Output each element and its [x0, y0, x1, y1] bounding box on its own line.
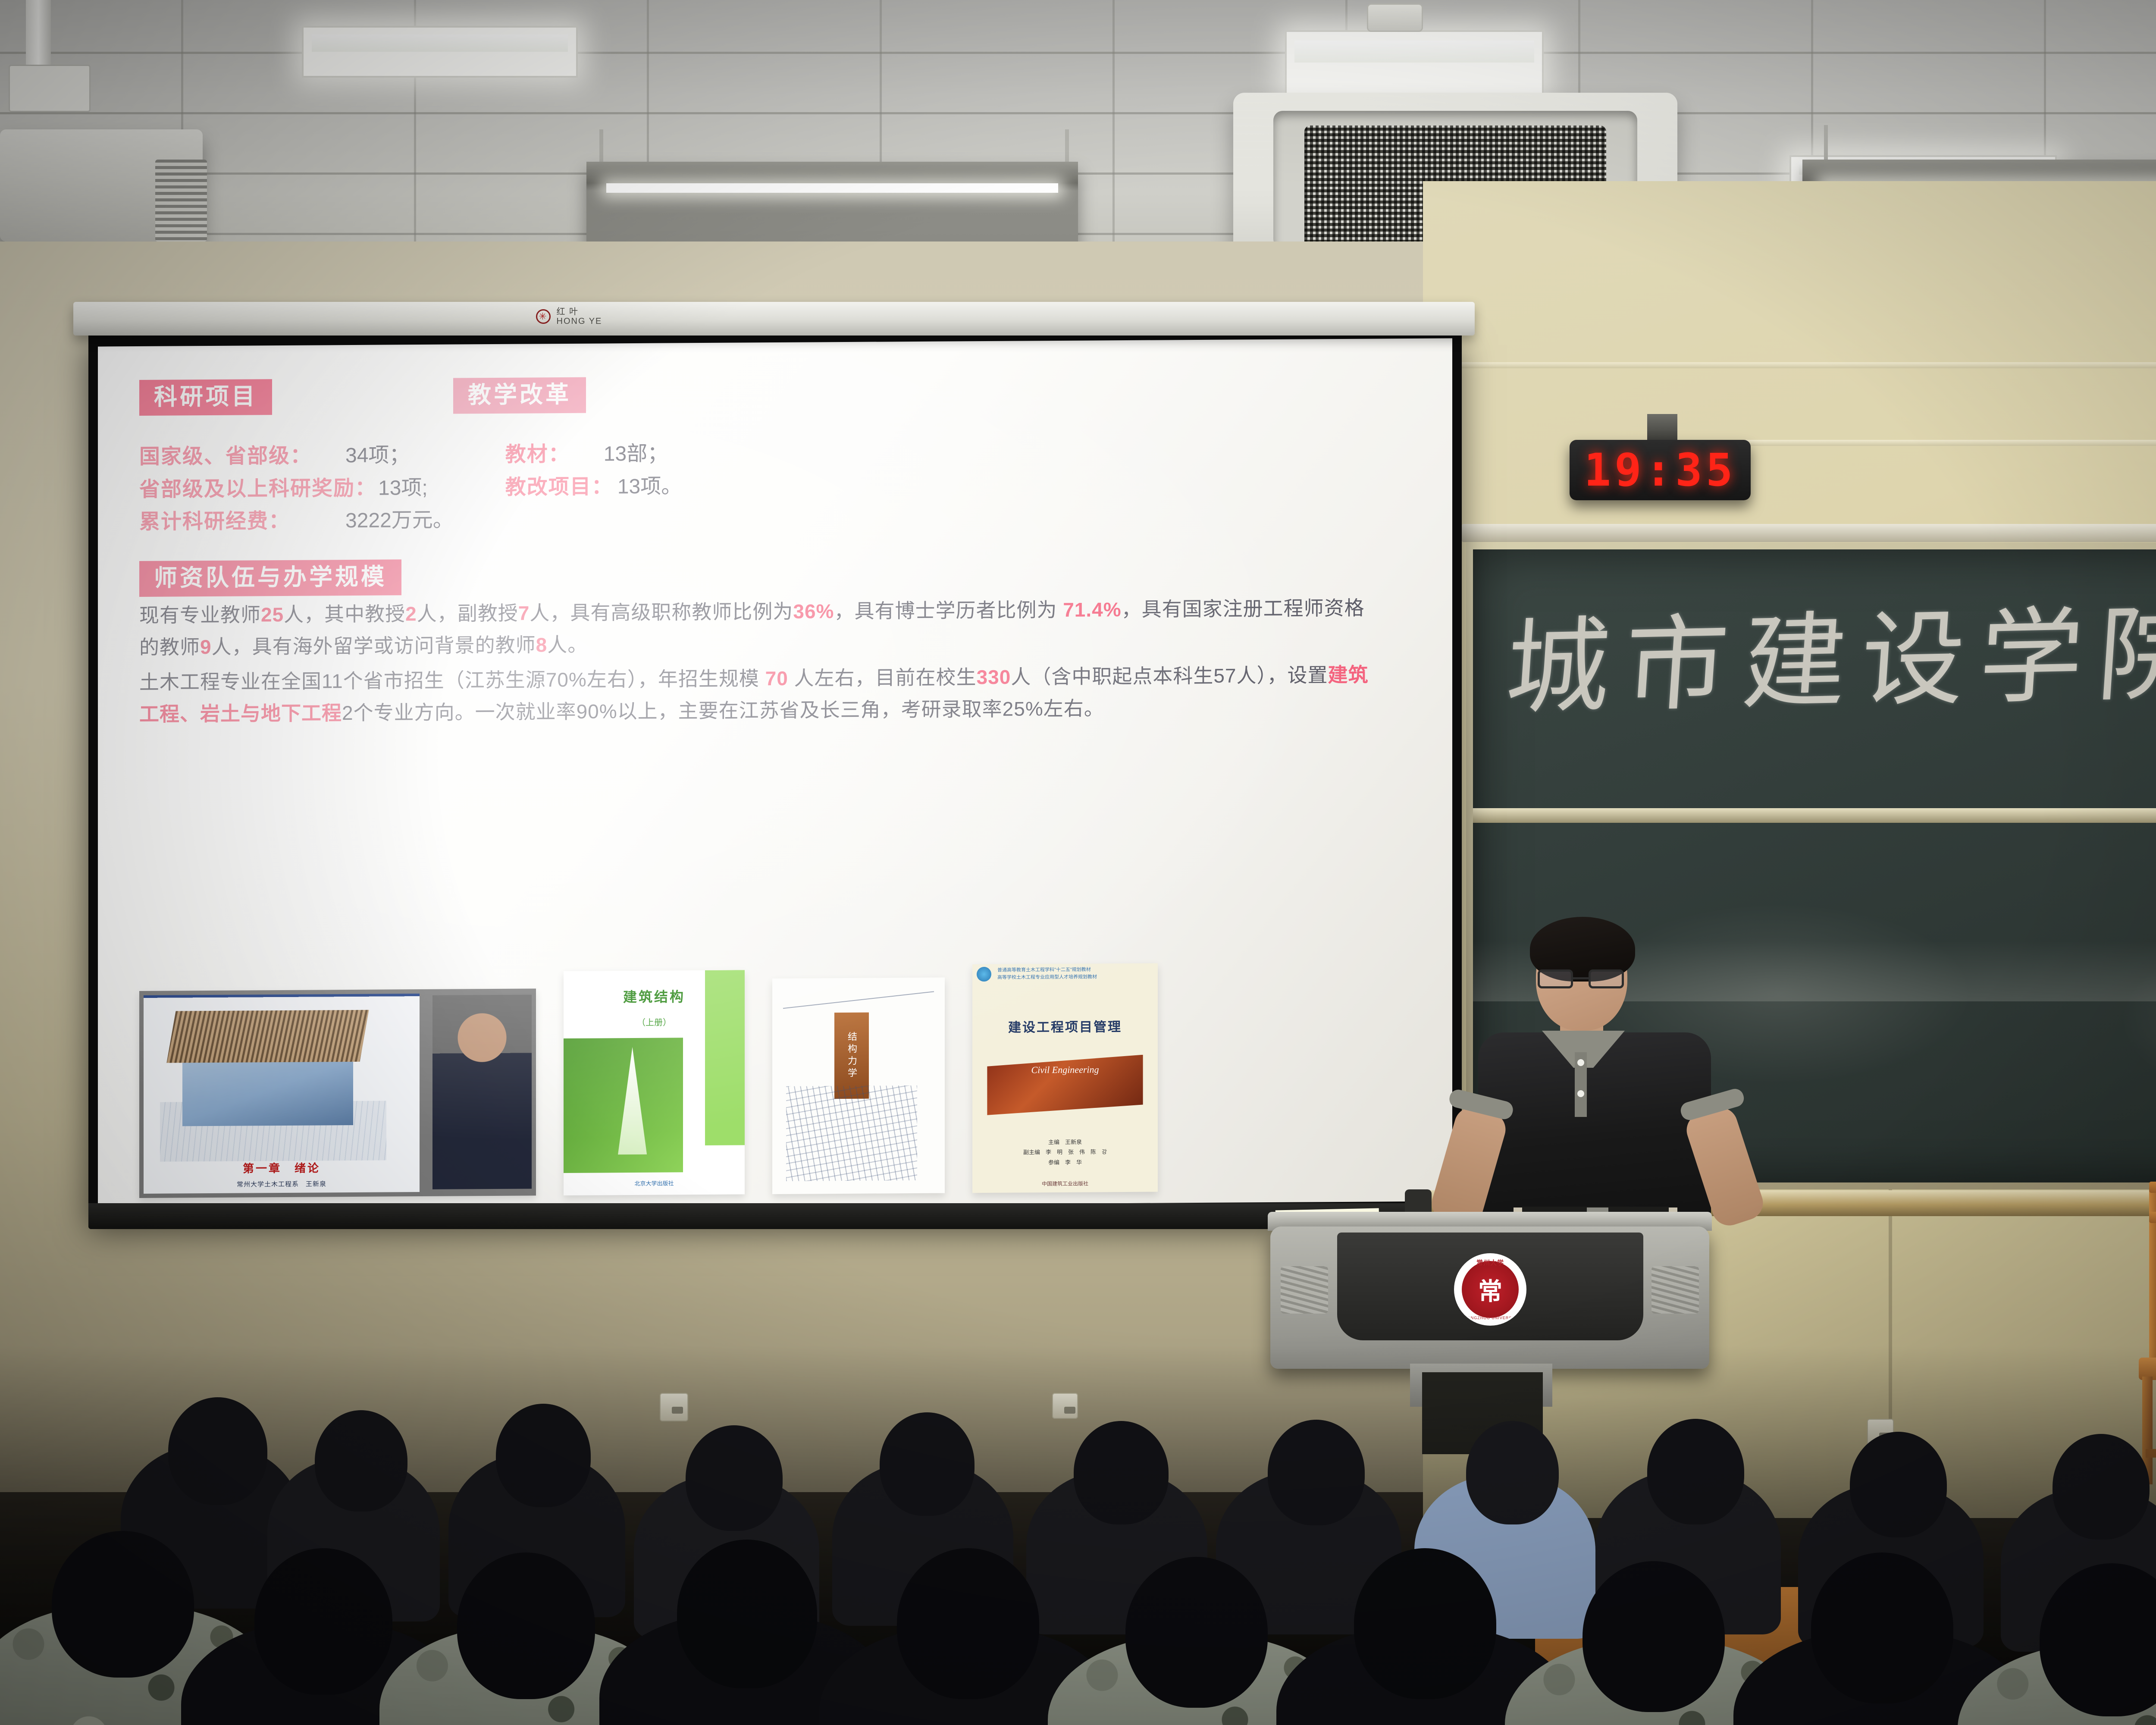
- ceiling-light-panel: [302, 26, 578, 78]
- textbook-covers: 第一章 绪论 常州大学土木工程系 王新泉 建筑结构 （上册） 北京大学出版社: [139, 963, 1158, 1198]
- audience-head: [496, 1404, 591, 1507]
- table-row: 国家级、省部级： 34项；: [139, 439, 454, 473]
- audience-head: [1811, 1552, 1953, 1703]
- stat-label: 省部级及以上科研奖励：: [139, 472, 376, 506]
- stat-value: 34项；: [345, 439, 410, 472]
- clock-time-display: 19:35: [1584, 444, 1736, 496]
- book-title: 建筑结构: [564, 986, 745, 1007]
- book-cover-structural-mechanics: 结构力学: [772, 978, 945, 1194]
- blackboard-chalk-text: 城市建设学院: [1502, 565, 2156, 734]
- blackboard-top-rail: [1462, 524, 2156, 542]
- logo-cn-text: 常州大学: [1456, 1258, 1525, 1267]
- screen-brand-en: HONG YE: [557, 317, 602, 326]
- brand-mark-icon: ✳: [536, 309, 551, 324]
- book-cover-building-structures: 建筑结构 （上册） 北京大学出版社: [564, 970, 745, 1195]
- classroom-scene: ✳ 红 叶 HONG YE 科研项目 教学改革 国家级、省部级：: [0, 0, 2156, 1725]
- audience-head: [168, 1397, 267, 1505]
- faculty-paragraph-1: 现有专业教师25人，其中教授2人，副教授7人，具有高级职称教师比例为36%，具有…: [139, 592, 1381, 664]
- book-caption: 第一章 绪论: [144, 1159, 420, 1176]
- ceiling-light-panel: [1285, 30, 1544, 95]
- book-volume: （上册）: [564, 1015, 745, 1029]
- teaching-stats-column: 教材： 13部； 教改项目： 13项。: [505, 437, 682, 536]
- audience-head: [2053, 1434, 2150, 1540]
- projection-screen[interactable]: 科研项目 教学改革 国家级、省部级： 34项； 省部级及以上科研奖励： 13项;: [88, 332, 1462, 1218]
- audience-head: [686, 1425, 783, 1531]
- stat-value: 13项。: [617, 470, 682, 503]
- book-subcaption: 常州大学土木工程系 王新泉: [144, 1179, 420, 1189]
- book-publisher: 中国建筑工业出版社: [972, 1179, 1158, 1188]
- speaker-person: [1457, 923, 1733, 1251]
- research-stats-column: 国家级、省部级： 34项； 省部级及以上科研奖励： 13项; 累计科研经费： 3…: [139, 439, 454, 539]
- audience-head: [315, 1410, 407, 1512]
- slide-tag-teaching: 教学改革: [453, 377, 586, 414]
- digital-clock: 19:35: [1570, 440, 1751, 500]
- book-series-note: 普通高等教育土木工程学科"十二五"规划教材 高等学校土木工程专业应用型人才培养规…: [976, 966, 1154, 991]
- slide-tag-faculty: 师资队伍与办学规模: [139, 559, 401, 596]
- audience-head: [1354, 1548, 1496, 1699]
- logo-glyph: 常: [1478, 1272, 1502, 1307]
- clock-mount: [1647, 414, 1677, 442]
- audience-seating: [0, 1345, 2156, 1725]
- audience-head: [677, 1540, 817, 1688]
- audience-head: [1583, 1561, 1725, 1712]
- stat-label: 累计科研经费：: [139, 505, 338, 539]
- audience-head: [1647, 1419, 1744, 1524]
- presenter-photo: [432, 994, 532, 1189]
- screen-weight-bar: [88, 1203, 1462, 1229]
- book-authors: 主编 王新泉 副主编 李 明 张 伟 陈 강 参编 李 华: [972, 1136, 1158, 1168]
- audience-head: [897, 1548, 1039, 1699]
- table-row: 教改项目： 13项。: [505, 470, 682, 504]
- audience-head: [1268, 1420, 1365, 1525]
- faculty-paragraph-2: 土木工程专业在全国11个省市招生（江苏生源70%左右），年招生规模 70 人左右…: [139, 659, 1381, 731]
- table-row: 教材： 13部；: [505, 437, 682, 471]
- table-row: 累计科研经费： 3222万元。: [139, 504, 454, 539]
- eyeglasses-icon: [1538, 969, 1624, 989]
- audience-head: [254, 1548, 392, 1695]
- book-english-title: Civil Engineering: [972, 1064, 1158, 1076]
- projector-bracket: [9, 65, 91, 112]
- stat-value: 13部；: [604, 437, 668, 470]
- book-cover-project-management: 普通高等教育土木工程学科"十二五"规划教材 高等学校土木工程专业应用型人才培养规…: [972, 963, 1158, 1193]
- ceiling-projector: [0, 129, 203, 241]
- screen-brand-cn: 红 叶: [557, 307, 602, 317]
- stat-label: 教材：: [505, 438, 596, 471]
- stat-label: 教改项目：: [505, 470, 613, 504]
- audience-head: [1074, 1421, 1169, 1524]
- stat-value: 3222万元。: [345, 504, 454, 537]
- university-logo: 常州大学 常 CHANGZHOU UNIVERSITY: [1454, 1253, 1526, 1326]
- audience-head: [1125, 1557, 1268, 1708]
- smoke-detector-icon: [1367, 3, 1423, 32]
- slide-tag-research: 科研项目: [139, 379, 272, 416]
- screen-brand-label: ✳ 红 叶 HONG YE: [536, 307, 602, 326]
- table-row: 省部级及以上科研奖励： 13项;: [139, 471, 454, 506]
- projector-vent: [155, 160, 207, 241]
- book-publisher: 北京大学出版社: [564, 1178, 745, 1188]
- stat-label: 国家级、省部级：: [139, 439, 338, 474]
- projection-screen-housing[interactable]: ✳ 红 叶 HONG YE: [73, 302, 1475, 336]
- audience-head: [457, 1552, 595, 1699]
- logo-en-text: CHANGZHOU UNIVERSITY: [1456, 1316, 1525, 1320]
- stat-value: 13项;: [378, 471, 428, 505]
- audience-head: [880, 1412, 975, 1516]
- blackboard-divider: [1473, 808, 2156, 823]
- projected-slide: 科研项目 教学改革 国家级、省部级： 34项； 省部级及以上科研奖励： 13项;: [98, 338, 1452, 1209]
- audience-head: [52, 1531, 194, 1678]
- book-title: 建设工程项目管理: [972, 1016, 1158, 1036]
- book-cover-lecture-slide: 第一章 绪论 常州大学土木工程系 王新泉: [139, 988, 536, 1198]
- audience-head: [1850, 1432, 1947, 1537]
- audience-head: [1466, 1421, 1559, 1524]
